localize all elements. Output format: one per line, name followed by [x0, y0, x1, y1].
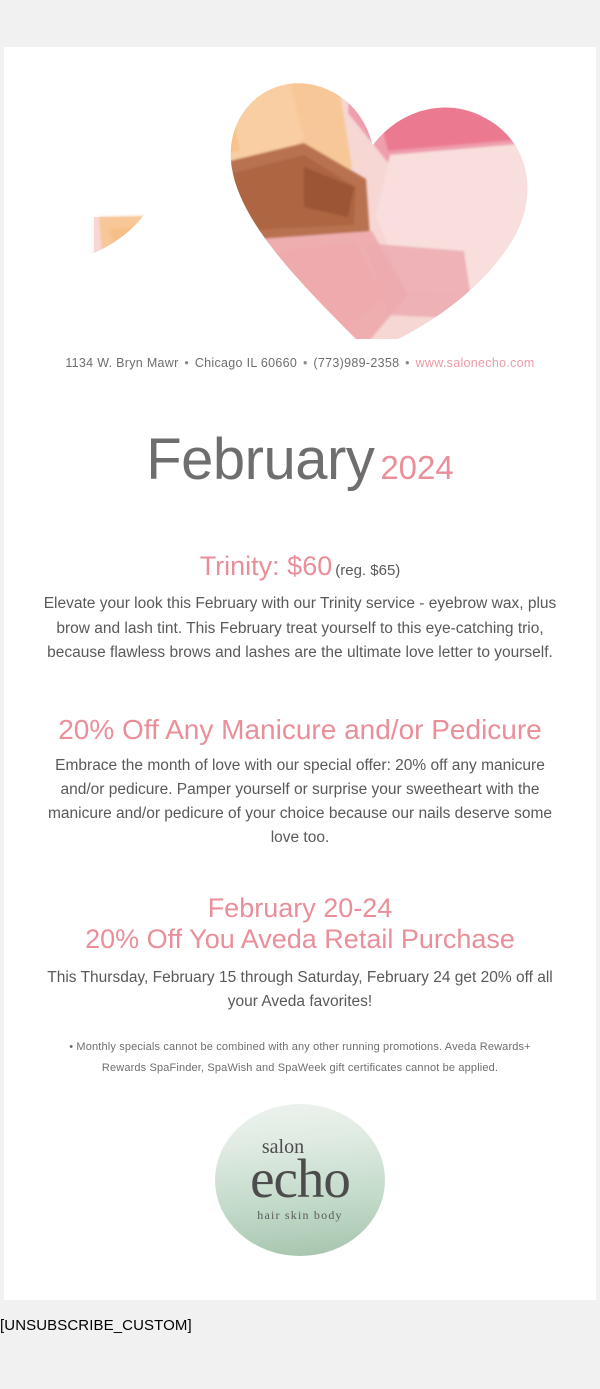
offer-nails-heading: 20% Off Any Manicure and/or Pedicure	[18, 665, 582, 746]
offer-aveda-heading: February 20-24 20% Off You Aveda Retail …	[18, 851, 582, 957]
watercolor-hearts-icon	[4, 47, 596, 339]
offer-aveda-body: This Thursday, February 15 through Satur…	[18, 956, 582, 1014]
email-card: 1134 W. Bryn Mawr • Chicago IL 60660 • (…	[4, 47, 596, 1300]
unsubscribe-link[interactable]: [UNSUBSCRIBE_CUSTOM]	[0, 1317, 192, 1334]
hero-banner	[4, 47, 596, 339]
offer-trinity-heading: Trinity: $60(reg. $65)	[18, 489, 582, 583]
newsletter-title: February2024	[4, 373, 596, 489]
offer-trinity: Trinity: $60(reg. $65) Elevate your look…	[4, 489, 596, 665]
offer-trinity-regular-price: (reg. $65)	[335, 562, 400, 579]
separator-dot-3: •	[403, 356, 412, 370]
logo-circle: salon echo hair skin body	[215, 1104, 385, 1256]
street-address: 1134 W. Bryn Mawr	[65, 356, 178, 370]
offer-nails-body: Embrace the month of love with our speci…	[18, 746, 582, 851]
phone-number: (773)989-2358	[313, 356, 399, 370]
logo-echo-text: echo	[250, 1151, 350, 1206]
disclaimer-line-2: Rewards SpaFinder, SpaWish and SpaWeek g…	[102, 1062, 498, 1074]
disclaimer-line-1: • Monthly specials cannot be combined wi…	[69, 1041, 531, 1053]
website-link[interactable]: www.salonecho.com	[416, 356, 535, 370]
offer-trinity-heading-text: Trinity: $60	[200, 551, 333, 581]
offer-aveda-discount: 20% Off You Aveda Retail Purchase	[85, 924, 515, 954]
salon-logo: salon echo hair skin body	[4, 1078, 596, 1256]
disclaimer-text: • Monthly specials cannot be combined wi…	[4, 1015, 596, 1079]
title-month: February	[146, 427, 374, 492]
city-state-zip: Chicago IL 60660	[195, 356, 297, 370]
logo-tagline: hair skin body	[257, 1208, 342, 1223]
separator-dot-1: •	[182, 356, 191, 370]
contact-info-line: 1134 W. Bryn Mawr • Chicago IL 60660 • (…	[4, 339, 596, 373]
title-year: 2024	[380, 449, 453, 486]
offer-aveda: February 20-24 20% Off You Aveda Retail …	[4, 851, 596, 1015]
separator-dot-2: •	[301, 356, 310, 370]
offer-nails: 20% Off Any Manicure and/or Pedicure Emb…	[4, 665, 596, 851]
offer-aveda-dates: February 20-24	[208, 893, 393, 923]
offer-trinity-body: Elevate your look this February with our…	[18, 582, 582, 665]
